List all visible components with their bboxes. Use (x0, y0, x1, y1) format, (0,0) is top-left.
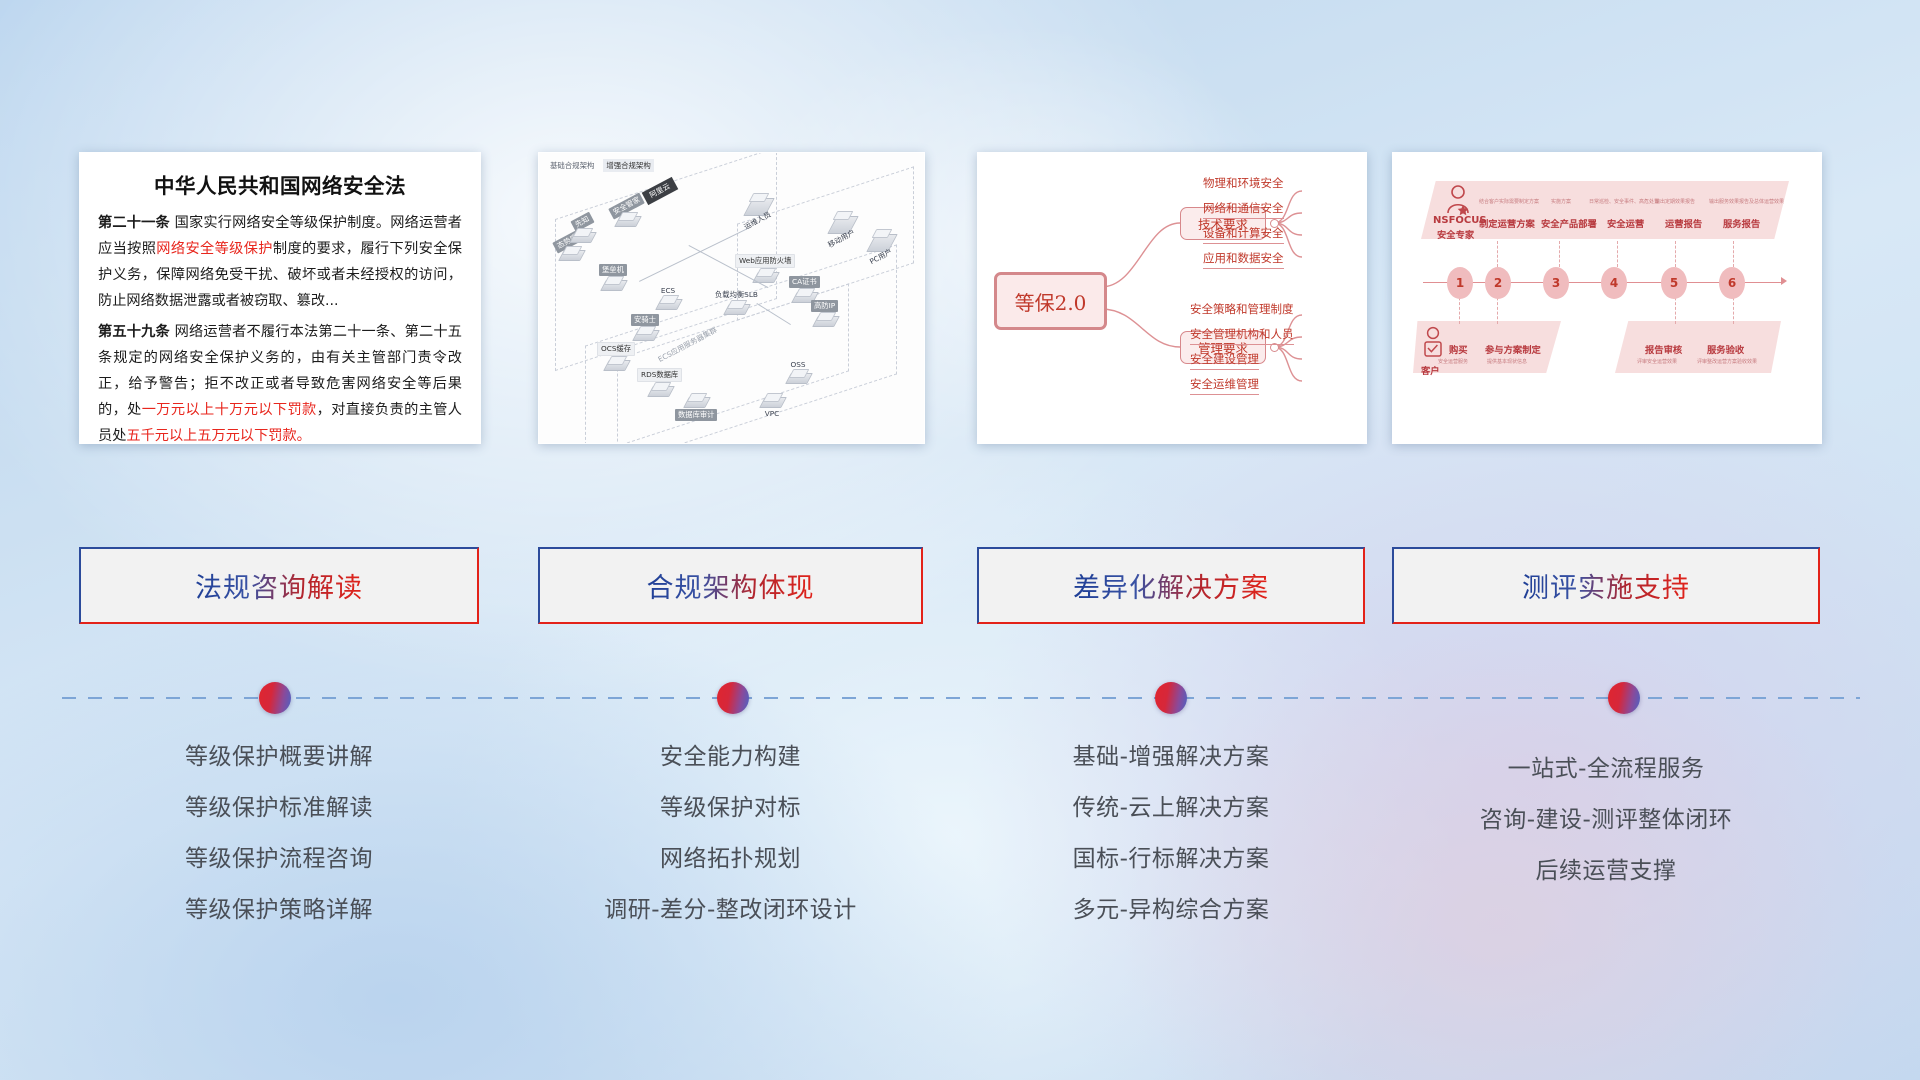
server-icon (571, 228, 593, 243)
heading-label: 测评实施支持 (1522, 566, 1690, 605)
flow-top-step-label: 安全运营 (1607, 216, 1644, 230)
flow-top-step-note: 结合客户实际需要制定方案 (1479, 198, 1539, 205)
server-icon (616, 212, 638, 227)
list-item: 国标-行标解决方案 (977, 848, 1365, 871)
architecture-node-label: 高防IP (811, 300, 838, 312)
card-cybersecurity-law: 中华人民共和国网络安全法 第二十一条 国家实行网络安全等级保护制度。网络运营者应… (79, 152, 481, 444)
flow-bottom-step-label: 服务验收 (1707, 342, 1744, 356)
architecture-node-pc-user: PC用户 (869, 229, 893, 262)
list-column-regulation-consulting: 等级保护概要讲解 等级保护标准解读 等级保护流程咨询 等级保护策略详解 (79, 746, 479, 950)
flow-bottom-step-label: 参与方案制定 (1485, 342, 1541, 356)
flow-customer-role: 客户 (1421, 363, 1440, 377)
list-item: 基础-增强解决方案 (977, 746, 1365, 769)
flow-step-marker[interactable]: 2 (1485, 267, 1511, 299)
law-article-59-label: 第五十九条 (98, 324, 170, 340)
architecture-node-label: OSS (790, 360, 805, 369)
timeline-dashed-line (62, 697, 1860, 699)
architecture-node-anqishi: 安骑士 (631, 313, 659, 341)
architecture-node-label: 负载均衡SLB (715, 290, 758, 300)
flow-step-marker[interactable]: 1 (1447, 267, 1473, 299)
mindmap-leaf[interactable]: 应用和数据安全 (1203, 250, 1284, 269)
architecture-node-mobile-user: 移动用户 (827, 211, 856, 244)
server-icon (602, 276, 624, 291)
flow-top-step-label: 制定运营方案 (1479, 216, 1535, 230)
service-flow-diagram: NSFOCUS 安全专家 客户 制定运营方案 结合客户实际需要制定方案 安全产品… (1393, 153, 1821, 443)
list-item: 等级保护标准解读 (79, 797, 479, 820)
server-icon (657, 295, 679, 310)
list-item: 等级保护概要讲解 (79, 746, 479, 769)
architecture-node-vpc: VPC (761, 393, 783, 418)
architecture-node-label: OCS缓存 (597, 342, 635, 356)
flow-bottom-step-label: 报告审核 (1645, 342, 1682, 356)
list-item: 调研-差分-整改闭环设计 (538, 899, 923, 922)
flow-step-marker[interactable]: 3 (1543, 267, 1569, 299)
list-column-evaluation-support: 一站式-全流程服务 咨询-建设-测评整体闭环 后续运营支撑 (1392, 758, 1820, 911)
cache-icon (605, 356, 627, 371)
flow-top-step-note: 输出服务效果报告及总体运营效果 (1709, 198, 1784, 205)
flow-dash-connector (1559, 241, 1560, 267)
heading-box-differentiated-solution[interactable]: 差异化解决方案 (977, 547, 1365, 624)
mindmap-leaf[interactable]: 安全建设管理 (1190, 351, 1259, 370)
architecture-node-anti-ddos: 高防IP (811, 299, 838, 327)
flow-dash-connector (1617, 241, 1618, 267)
card-nsfocus-service-flow: NSFOCUS 安全专家 客户 制定运营方案 结合客户实际需要制定方案 安全产品… (1392, 152, 1822, 444)
law-article-21-label: 第二十一条 (98, 215, 170, 231)
mindmap: 等保2.0 技术要求 管理要求 物理和环境安全 网络和通信安全 设备和计算安全 … (978, 153, 1366, 443)
mindmap-leaf[interactable]: 网络和通信安全 (1203, 200, 1284, 219)
mindmap-leaf[interactable]: 安全管理机构和人员 (1190, 326, 1294, 345)
flow-top-step-label: 运营报告 (1665, 216, 1702, 230)
flow-expert-role: 安全专家 (1437, 227, 1474, 241)
timeline-dot-4 (1608, 682, 1640, 714)
flow-dash-connector (1733, 241, 1734, 267)
law-article-59-highlight-2: 五千元以上五万元以下罚款。 (126, 428, 310, 444)
list-column-compliance-architecture: 安全能力构建 等级保护对标 网络拓扑规划 调研-差分-整改闭环设计 (538, 746, 923, 950)
law-title: 中华人民共和国网络安全法 (98, 169, 462, 199)
card-cloud-architecture: 基础合规架构 增强合规架构 阿里云 态势感知 先知 安全管家 (538, 152, 925, 444)
load-balancer-icon (725, 300, 747, 315)
flow-bottom-step-note: 提供基本现状信息 (1487, 358, 1527, 365)
architecture-node-oss: OSS (787, 359, 809, 384)
architecture-node-label: CA证书 (789, 276, 820, 288)
architecture-node-ocs-cache: OCS缓存 (597, 341, 635, 371)
architecture-node-waf: Web应用防火墙 (735, 253, 795, 283)
card-dengbao-mindmap: 等保2.0 技术要求 管理要求 物理和环境安全 网络和通信安全 设备和计算安全 … (977, 152, 1367, 444)
architecture-node-ecs: ECS (657, 285, 679, 310)
slide-stage: 中华人民共和国网络安全法 第二十一条 国家实行网络安全等级保护制度。网络运营者应… (0, 0, 1920, 1080)
list-item: 咨询-建设-测评整体闭环 (1392, 809, 1820, 832)
server-icon (560, 246, 582, 261)
flow-top-step-label: 安全产品部署 (1541, 216, 1597, 230)
flow-top-step-note: 日常巡检、安全事件、高危处置 (1589, 198, 1659, 205)
object-storage-icon (787, 369, 809, 384)
timeline-dot-3 (1155, 682, 1187, 714)
architecture-tabs: 基础合规架构 增强合规架构 (547, 159, 654, 172)
architecture-node-label: Web应用防火墙 (735, 254, 795, 268)
flow-dash-connector (1675, 241, 1676, 267)
law-article-59-highlight-1: 一万元以上十万元以下罚款 (142, 402, 317, 418)
architecture-node-security-butler: 安全管家 (609, 199, 644, 227)
list-item: 等级保护流程咨询 (79, 848, 479, 871)
architecture-node-bastion-host: 堡垒机 (599, 263, 627, 291)
flow-banner-customer-right (1615, 321, 1781, 373)
mindmap-leaf[interactable]: 设备和计算安全 (1203, 225, 1284, 244)
list-column-differentiated-solution: 基础-增强解决方案 传统-云上解决方案 国标-行标解决方案 多元-异构综合方案 (977, 746, 1365, 950)
architecture-node-label: 堡垒机 (599, 264, 627, 276)
list-item: 多元-异构综合方案 (977, 899, 1365, 922)
architecture-node-label: RDS数据库 (637, 368, 682, 382)
heading-box-evaluation-support[interactable]: 测评实施支持 (1392, 547, 1820, 624)
law-article-59: 第五十九条 网络运营者不履行本法第二十一条、第二十五条规定的网络安全保护义务的，… (98, 320, 462, 444)
flow-bottom-step-note: 评审整改运营方案验收效果 (1697, 358, 1757, 365)
architecture-node-ops-staff: 运维人员 (743, 193, 772, 226)
flow-step-marker[interactable]: 4 (1601, 267, 1627, 299)
heading-box-compliance-architecture[interactable]: 合规架构体现 (538, 547, 923, 624)
architecture-tab-enhanced[interactable]: 增强合规架构 (603, 159, 653, 172)
flow-bottom-step-note: 安全运营服务 (1438, 358, 1468, 365)
database-icon (649, 382, 671, 397)
law-article-21: 第二十一条 国家实行网络安全等级保护制度。网络运营者应当按照网络安全等级保护制度… (98, 211, 462, 314)
list-item: 传统-云上解决方案 (977, 797, 1365, 820)
list-item: 等级保护策略详解 (79, 899, 479, 922)
architecture-node-slb: 负载均衡SLB (715, 289, 758, 315)
flow-bottom-step-note: 评审安全运营效果 (1637, 358, 1677, 365)
timeline-dot-1 (259, 682, 291, 714)
list-item: 一站式-全流程服务 (1392, 758, 1820, 781)
list-item: 后续运营支撑 (1392, 860, 1820, 883)
flow-top-step-label: 服务报告 (1723, 216, 1760, 230)
mindmap-leaf[interactable]: 物理和环境安全 (1203, 175, 1284, 193)
law-article-21-highlight: 网络安全等级保护 (156, 241, 273, 257)
architecture-diagram: 基础合规架构 增强合规架构 阿里云 态势感知 先知 安全管家 (539, 153, 924, 443)
list-item: 安全能力构建 (538, 746, 923, 769)
heading-label: 法规咨询解读 (195, 566, 363, 605)
law-text-body: 中华人民共和国网络安全法 第二十一条 国家实行网络安全等级保护制度。网络运营者应… (80, 153, 480, 443)
architecture-node-label: VPC (765, 409, 780, 418)
architecture-node-xianzhi: 先知 (571, 215, 593, 243)
flow-bottom-step-label: 购买 (1449, 342, 1468, 356)
architecture-tab-basic[interactable]: 基础合规架构 (547, 159, 597, 172)
vpc-icon (761, 393, 783, 408)
agent-icon (634, 326, 656, 341)
list-item: 等级保护对标 (538, 797, 923, 820)
heading-box-regulation-consulting[interactable]: 法规咨询解读 (79, 547, 479, 624)
list-item: 网络拓扑规划 (538, 848, 923, 871)
flow-top-step-note: 实施方案 (1551, 198, 1571, 205)
mindmap-root-node[interactable]: 等保2.0 (994, 272, 1107, 330)
flow-step-marker[interactable]: 5 (1661, 267, 1687, 299)
architecture-node-label: 安骑士 (631, 314, 659, 326)
flow-axis-arrow-icon (1781, 277, 1787, 285)
flow-step-marker[interactable]: 6 (1719, 267, 1745, 299)
mindmap-leaf[interactable]: 安全运维管理 (1190, 376, 1259, 395)
audit-icon (685, 393, 707, 408)
architecture-node-label: ECS (661, 286, 675, 295)
flow-dash-connector (1497, 241, 1498, 267)
architecture-node-db-audit: 数据库审计 (675, 393, 717, 421)
shield-icon (814, 312, 836, 327)
heading-label: 合规架构体现 (647, 566, 815, 605)
timeline-dot-2 (717, 682, 749, 714)
flow-top-step-note: 输出定期效果报告 (1655, 198, 1695, 205)
heading-label: 差异化解决方案 (1073, 566, 1269, 605)
mindmap-leaf[interactable]: 安全策略和管理制度 (1190, 301, 1294, 319)
architecture-node-label: 数据库审计 (675, 409, 717, 421)
